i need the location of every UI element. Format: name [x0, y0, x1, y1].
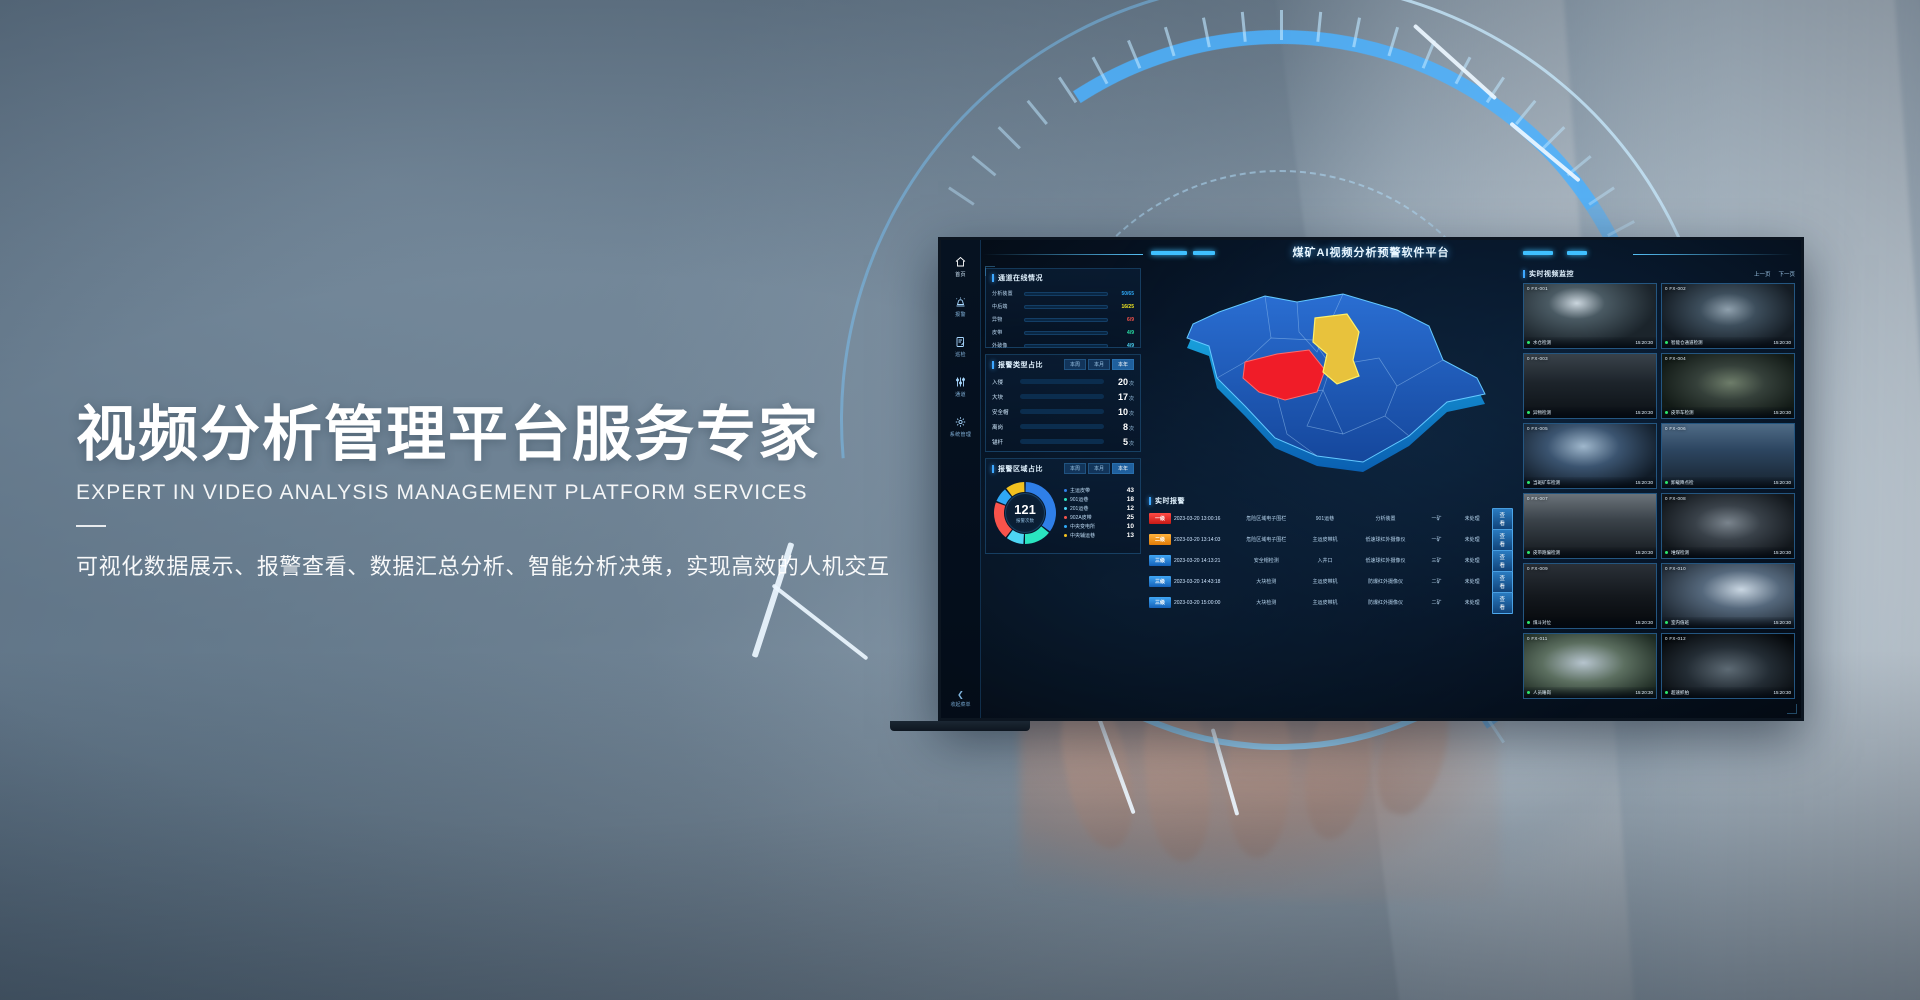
header-line-left	[983, 254, 1143, 255]
video-tile[interactable]: 0 FX-006卸载降点检15:20:30	[1661, 423, 1795, 489]
status-badge: 三级	[1149, 597, 1171, 608]
status-dot-icon	[1527, 551, 1530, 554]
video-tile-time: 15:20:30	[1635, 480, 1653, 485]
alarm-type-label: 离岗	[992, 423, 1016, 431]
alarm-icon	[943, 296, 979, 308]
sidebar-label-channel: 通道	[943, 391, 979, 398]
video-wall-title: 实时视频监控	[1529, 269, 1574, 279]
cell-location: 主运皮带机	[1299, 536, 1351, 543]
legend-dot	[1064, 525, 1067, 528]
channel-row-track	[1024, 318, 1108, 322]
camera-id: 0 FX-004	[1665, 356, 1686, 361]
channel-row-label: 中后端	[992, 303, 1020, 310]
screen-corner-tl	[985, 266, 995, 276]
cell-alarm-type: 大块检测	[1237, 578, 1297, 585]
header-chip-left-2	[1193, 251, 1215, 255]
cell-location: 入井口	[1299, 557, 1351, 564]
alarm-area-legend: 主运皮带43901运巷18201运巷12902A皮带25中央变电所10中央辅运巷…	[1064, 487, 1134, 539]
alarm-type-value: 10次	[1108, 407, 1134, 417]
video-tile[interactable]: 0 FX-012超速抓拍15:20:30	[1661, 633, 1795, 699]
video-tile-label: 室内值班	[1671, 620, 1689, 626]
channel-row: 中后端16/25	[992, 300, 1134, 313]
region-map-svg	[1147, 266, 1519, 488]
donut-center-value: 121	[1014, 503, 1036, 516]
cell-mine: 二矿	[1420, 578, 1453, 585]
camera-id: 0 FX-005	[1527, 426, 1548, 431]
dashboard-header: 煤矿AI视频分析预警软件平台	[941, 240, 1801, 266]
video-tile-label: 当斑矿车检测	[1533, 480, 1560, 486]
legend-value: 25	[1120, 514, 1134, 521]
realtime-alarm-title: 实时报警	[1155, 496, 1185, 506]
table-row: 一级2023-03-20 13:00:16危险区域电子围栏901运巷分析装置一矿…	[1147, 508, 1519, 529]
alarm-area-title: 报警区域占比	[998, 464, 1043, 474]
video-tile-label: 皮带车检测	[1671, 410, 1694, 416]
camera-id: 0 FX-006	[1665, 426, 1686, 431]
inspection-icon	[943, 336, 979, 348]
cell-alarm-type: 安全帽检测	[1237, 557, 1297, 564]
view-button[interactable]: 查看	[1492, 592, 1514, 614]
legend-label: 902A皮带	[1070, 514, 1117, 521]
view-button[interactable]: 查看	[1492, 571, 1514, 593]
title-accent-bar	[992, 361, 994, 369]
channel-row-label: 分析装置	[992, 290, 1020, 297]
alarm-type-row: 安全帽10次	[992, 404, 1134, 419]
legend-label: 主运皮带	[1070, 487, 1117, 494]
hero-description: 可视化数据展示、报警查看、数据汇总分析、智能分析决策，实现高效的人机交互	[76, 549, 976, 581]
legend-dot	[1064, 489, 1067, 492]
table-row: 三级2023-03-20 14:13:21安全帽检测入井口低速球红外摄像仪三矿未…	[1147, 550, 1519, 571]
cell-time: 2023-03-20 14:13:21	[1174, 558, 1234, 564]
video-tile-label: 智能仓通道检测	[1671, 340, 1703, 346]
legend-dot	[1064, 534, 1067, 537]
alarm-type-title-row: 报警类型占比 本周本月本年	[986, 355, 1140, 372]
video-tile-time: 15:20:30	[1773, 480, 1791, 485]
status-dot-icon	[1665, 691, 1668, 694]
collapse-icon: ❮	[943, 690, 979, 699]
cell-status: 未处理	[1456, 578, 1489, 585]
video-tile-footer: 皮带跑偏检测15:20:30	[1524, 547, 1656, 558]
legend-item: 主运皮带43	[1064, 487, 1134, 494]
channel-row: 异物6/9	[992, 313, 1134, 326]
video-tile-footer: 堆煤检测15:20:30	[1662, 547, 1794, 558]
cell-status: 未处理	[1456, 599, 1489, 606]
channel-online-list: 分析装置50/65中后端16/25异物6/9皮带4/9外破像4/9	[986, 285, 1140, 356]
title-accent-bar	[1149, 497, 1151, 505]
tab-本月[interactable]: 本月	[1088, 359, 1110, 370]
sidebar-item-home[interactable]: 首页	[943, 256, 979, 278]
channel-row-value: 4/9	[1112, 330, 1134, 336]
channel-row-value: 4/9	[1112, 343, 1134, 349]
realtime-alarm-rows: 一级2023-03-20 13:00:16危险区域电子围栏901运巷分析装置一矿…	[1147, 508, 1519, 613]
video-tile-time: 15:20:30	[1635, 620, 1653, 625]
realtime-alarm-panel: 实时报警 一级2023-03-20 13:00:16危险区域电子围栏901运巷分…	[1147, 492, 1519, 688]
next-page-button[interactable]: 下一页	[1778, 270, 1795, 278]
cell-time: 2023-03-20 14:43:18	[1174, 579, 1234, 585]
sidebar-collapse-label: 收起菜单	[943, 701, 979, 708]
video-tile-time: 15:20:30	[1635, 690, 1653, 695]
camera-id: 0 FX-003	[1527, 356, 1548, 361]
status-dot-icon	[1527, 481, 1530, 484]
video-tile-label: 堆煤检测	[1671, 550, 1689, 556]
legend-value: 12	[1120, 505, 1134, 512]
legend-label: 901运巷	[1070, 496, 1117, 503]
donut-center: 121 报警次数	[1005, 493, 1045, 533]
video-tile[interactable]: 0 FX-002智能仓通道检测15:20:30	[1661, 283, 1795, 349]
video-tile-footer: 煤斗对位15:20:30	[1524, 617, 1656, 628]
header-chip-left-1	[1151, 251, 1187, 255]
video-tile-label: 异物检测	[1533, 410, 1551, 416]
sidebar-item-alarm[interactable]: 报警	[943, 296, 979, 318]
video-tile-footer: 当斑矿车检测15:20:30	[1524, 477, 1656, 488]
legend-label: 201运巷	[1070, 505, 1117, 512]
alarm-type-label: 入侵	[992, 378, 1016, 386]
alarm-type-track	[1020, 379, 1104, 384]
screen-corner-br	[1787, 704, 1797, 714]
prev-page-button[interactable]: 上一页	[1754, 270, 1771, 278]
video-tile-time: 15:20:30	[1773, 410, 1791, 415]
sidebar-label-system-settings: 系统管理	[943, 431, 979, 438]
video-tile[interactable]: 0 FX-005当斑矿车检测15:20:30	[1523, 423, 1657, 489]
cell-mine: 二矿	[1420, 599, 1453, 606]
sidebar-collapse[interactable]: ❮ 收起菜单	[943, 690, 979, 708]
alarm-type-value: 8次	[1108, 422, 1134, 432]
sidebar-item-channel[interactable]: 通道	[943, 376, 979, 398]
alarm-type-row: 入侵20次	[992, 374, 1134, 389]
tab-本周[interactable]: 本周	[1064, 463, 1086, 474]
alarm-area-chart-row: 121 报警次数 主运皮带43901运巷18201运巷12902A皮带25中央变…	[986, 476, 1140, 550]
video-tile-time: 15:20:30	[1773, 550, 1791, 555]
video-tile-time: 15:20:30	[1773, 340, 1791, 345]
cell-action: 查看	[1492, 529, 1518, 551]
channel-row-value: 6/9	[1112, 317, 1134, 323]
status-dot-icon	[1527, 621, 1530, 624]
status-badge: 二级	[1149, 534, 1171, 545]
alarm-type-track	[1020, 439, 1104, 444]
hero-subtitle: EXPERT IN VIDEO ANALYSIS MANAGEMENT PLAT…	[76, 481, 976, 505]
alarm-type-label: 锚杆	[992, 438, 1016, 446]
channel-row: 皮带4/9	[992, 326, 1134, 339]
cell-action: 查看	[1492, 550, 1518, 572]
legend-label: 中央变电所	[1070, 523, 1117, 530]
video-tile[interactable]: 0 FX-004皮带车检测15:20:30	[1661, 353, 1795, 419]
video-tile-footer: 皮带车检测15:20:30	[1662, 407, 1794, 418]
dashboard-screen: 煤矿AI视频分析预警软件平台 首页 报警	[941, 240, 1801, 718]
legend-value: 10	[1120, 523, 1134, 530]
cell-device: 低速球红外摄像仪	[1354, 536, 1417, 543]
status-dot-icon	[1527, 341, 1530, 344]
video-tile-label: 超速抓拍	[1671, 690, 1689, 696]
camera-id: 0 FX-001	[1527, 286, 1548, 291]
video-tile[interactable]: 0 FX-001水仓检测15:20:30	[1523, 283, 1657, 349]
channel-row-track	[1024, 305, 1108, 309]
gear-icon	[943, 416, 979, 428]
camera-id: 0 FX-012	[1665, 636, 1686, 641]
sidebar: 首页 报警 巡检 通道	[941, 240, 981, 718]
cell-action: 查看	[1492, 508, 1518, 530]
video-tile-footer: 水仓检测15:20:30	[1524, 337, 1656, 348]
status-badge: 一级	[1149, 513, 1171, 524]
alarm-area-tabs: 本周本月本年	[1064, 463, 1134, 474]
home-icon	[943, 256, 979, 268]
channel-row: 外破像4/9	[992, 339, 1134, 352]
header-chip-right-1	[1523, 251, 1553, 255]
table-row: 三级2023-03-20 14:43:18大块检测主运皮带机防爆红外摄像仪二矿未…	[1147, 571, 1519, 592]
video-wall-panel: 实时视频监控 上一页 下一页 0 FX-001水仓检测15:20:300 FX-…	[1519, 266, 1799, 718]
cell-device: 防爆红外摄像仪	[1354, 578, 1417, 585]
status-dot-icon	[1665, 481, 1668, 484]
video-wall-grid: 0 FX-001水仓检测15:20:300 FX-002智能仓通道检测15:20…	[1519, 281, 1799, 701]
camera-id: 0 FX-008	[1665, 496, 1686, 501]
alarm-type-track	[1020, 409, 1104, 414]
status-dot-icon	[1665, 551, 1668, 554]
cell-mine: 三矿	[1420, 557, 1453, 564]
status-dot-icon	[1665, 341, 1668, 344]
status-dot-icon	[1527, 691, 1530, 694]
channel-online-panel: 通道在线情况 分析装置50/65中后端16/25异物6/9皮带4/9外破像4/9	[985, 268, 1141, 348]
legend-item: 中央辅运巷13	[1064, 532, 1134, 539]
alarm-area-donut: 121 报警次数	[992, 480, 1058, 546]
channel-row-track	[1024, 344, 1108, 348]
cell-time: 2023-03-20 13:00:16	[1174, 516, 1234, 522]
cell-location: 主运皮带机	[1299, 599, 1351, 606]
title-accent-bar	[1523, 270, 1525, 278]
video-tile-time: 15:20:30	[1635, 410, 1653, 415]
donut-segment[interactable]	[1010, 534, 1024, 539]
alarm-type-tabs: 本周本月本年	[1064, 359, 1134, 370]
cell-alarm-type: 危险区域电子围栏	[1237, 515, 1297, 522]
channel-online-title: 通道在线情况	[998, 273, 1043, 283]
video-tile-time: 15:20:30	[1773, 690, 1791, 695]
monitor-stand	[890, 721, 1030, 731]
cell-device: 低速球红外摄像仪	[1354, 557, 1417, 564]
video-tile[interactable]: 0 FX-003异物检测15:20:30	[1523, 353, 1657, 419]
channel-row-label: 异物	[992, 316, 1020, 323]
legend-label: 中央辅运巷	[1070, 532, 1117, 539]
video-tile-label: 人员睡岗	[1533, 690, 1551, 696]
cell-location: 901运巷	[1299, 515, 1351, 522]
channel-row-label: 外破像	[992, 342, 1020, 349]
legend-item: 902A皮带25	[1064, 514, 1134, 521]
alarm-area-title-row: 报警区域占比 本周本月本年	[986, 459, 1140, 476]
video-tile-footer: 人员睡岗15:20:30	[1524, 687, 1656, 698]
hero-divider	[76, 525, 106, 527]
status-badge: 三级	[1149, 555, 1171, 566]
video-tile[interactable]: 0 FX-010室内值班15:20:30	[1661, 563, 1795, 629]
camera-id: 0 FX-002	[1665, 286, 1686, 291]
alarm-type-value: 5次	[1108, 437, 1134, 447]
cell-alarm-type: 危险区域电子围栏	[1237, 536, 1297, 543]
video-tile-label: 卸载降点检	[1671, 480, 1694, 486]
channel-icon	[943, 376, 979, 388]
alarm-area-panel: 报警区域占比 本周本月本年 121 报警次数 主运皮带43901运巷18201运…	[985, 458, 1141, 554]
legend-value: 13	[1120, 532, 1134, 539]
cell-mine: 一矿	[1420, 536, 1453, 543]
channel-row-track	[1024, 292, 1108, 296]
region-map[interactable]	[1147, 266, 1519, 488]
cell-device: 分析装置	[1354, 515, 1417, 522]
status-dot-icon	[1665, 621, 1668, 624]
dashboard-monitor: 煤矿AI视频分析预警软件平台 首页 报警	[938, 237, 1804, 721]
hero-title: 视频分析管理平台服务专家	[76, 400, 976, 469]
video-tile[interactable]: 0 FX-008堆煤检测15:20:30	[1661, 493, 1795, 559]
alarm-type-list: 入侵20次大块17次安全帽10次离岗8次锚杆5次	[986, 372, 1140, 452]
cell-time: 2023-03-20 13:14:03	[1174, 537, 1234, 543]
camera-id: 0 FX-010	[1665, 566, 1686, 571]
alarm-type-row: 大块17次	[992, 389, 1134, 404]
camera-id: 0 FX-011	[1527, 636, 1548, 641]
video-tile-label: 皮带跑偏检测	[1533, 550, 1560, 556]
status-dot-icon	[1527, 411, 1530, 414]
video-tile-time: 15:20:30	[1635, 340, 1653, 345]
cell-device: 防爆红外摄像仪	[1354, 599, 1417, 606]
tab-本月[interactable]: 本月	[1088, 463, 1110, 474]
alarm-type-track	[1020, 424, 1104, 429]
header-line-right	[1633, 254, 1793, 255]
channel-row-track	[1024, 331, 1108, 335]
legend-dot	[1064, 507, 1067, 510]
cell-action: 查看	[1492, 592, 1518, 614]
video-tile-time: 15:20:30	[1773, 620, 1791, 625]
status-dot-icon	[1665, 411, 1668, 414]
legend-item: 中央变电所10	[1064, 523, 1134, 530]
sidebar-item-inspection[interactable]: 巡检	[943, 336, 979, 358]
alarm-type-label: 安全帽	[992, 408, 1016, 416]
cell-mine: 一矿	[1420, 515, 1453, 522]
cell-status: 未处理	[1456, 557, 1489, 564]
video-tile[interactable]: 0 FX-009煤斗对位15:20:30	[1523, 563, 1657, 629]
tab-本周[interactable]: 本周	[1064, 359, 1086, 370]
cell-location: 主运皮带机	[1299, 578, 1351, 585]
cell-time: 2023-03-20 15:00:00	[1174, 600, 1234, 606]
channel-row-value: 50/65	[1112, 291, 1134, 297]
alarm-type-row: 锚杆5次	[992, 434, 1134, 449]
legend-dot	[1064, 498, 1067, 501]
legend-dot	[1064, 516, 1067, 519]
camera-id: 0 FX-007	[1527, 496, 1548, 501]
title-accent-bar	[992, 465, 994, 473]
video-tile[interactable]: 0 FX-011人员睡岗15:20:30	[1523, 633, 1657, 699]
view-button[interactable]: 查看	[1492, 529, 1514, 551]
video-tile[interactable]: 0 FX-007皮带跑偏检测15:20:30	[1523, 493, 1657, 559]
legend-item: 201运巷12	[1064, 505, 1134, 512]
video-wall-pager: 上一页 下一页	[1754, 270, 1795, 278]
alarm-type-panel: 报警类型占比 本周本月本年 入侵20次大块17次安全帽10次离岗8次锚杆5次	[985, 354, 1141, 452]
tab-本年[interactable]: 本年	[1112, 359, 1134, 370]
sidebar-label-home: 首页	[943, 271, 979, 278]
status-badge: 三级	[1149, 576, 1171, 587]
video-tile-footer: 超速抓拍15:20:30	[1662, 687, 1794, 698]
view-button[interactable]: 查看	[1492, 550, 1514, 572]
video-tile-footer: 异物检测15:20:30	[1524, 407, 1656, 418]
hero-text-block: 视频分析管理平台服务专家 EXPERT IN VIDEO ANALYSIS MA…	[76, 400, 976, 581]
table-row: 二级2023-03-20 13:14:03危险区域电子围栏主运皮带机低速球红外摄…	[1147, 529, 1519, 550]
video-tile-label: 煤斗对位	[1533, 620, 1551, 626]
cell-alarm-type: 大块检测	[1237, 599, 1297, 606]
legend-value: 18	[1120, 496, 1134, 503]
alarm-type-title: 报警类型占比	[998, 360, 1043, 370]
legend-item: 901运巷18	[1064, 496, 1134, 503]
header-chip-right-2	[1567, 251, 1587, 255]
video-tile-footer: 室内值班15:20:30	[1662, 617, 1794, 628]
video-wall-header: 实时视频监控 上一页 下一页	[1519, 266, 1799, 281]
legend-value: 43	[1120, 487, 1134, 494]
sidebar-item-system-settings[interactable]: 系统管理	[943, 416, 979, 438]
app-title: 煤矿AI视频分析预警软件平台	[1293, 244, 1450, 260]
table-row: 三级2023-03-20 15:00:00大块检测主运皮带机防爆红外摄像仪二矿未…	[1147, 592, 1519, 613]
channel-row: 分析装置50/65	[992, 287, 1134, 300]
tab-本年[interactable]: 本年	[1112, 463, 1134, 474]
donut-segment[interactable]	[1009, 487, 1024, 492]
sidebar-label-inspection: 巡检	[943, 351, 979, 358]
video-tile-footer: 智能仓通道检测15:20:30	[1662, 337, 1794, 348]
video-tile-time: 15:20:30	[1635, 550, 1653, 555]
alarm-type-value: 17次	[1108, 392, 1134, 402]
realtime-alarm-title-row: 实时报警	[1147, 492, 1519, 508]
video-tile-footer: 卸载降点检15:20:30	[1662, 477, 1794, 488]
alarm-type-row: 离岗8次	[992, 419, 1134, 434]
alarm-type-label: 大块	[992, 393, 1016, 401]
cell-action: 查看	[1492, 571, 1518, 593]
donut-center-label: 报警次数	[1016, 518, 1034, 524]
cell-status: 未处理	[1456, 515, 1489, 522]
view-button[interactable]: 查看	[1492, 508, 1514, 530]
camera-id: 0 FX-009	[1527, 566, 1548, 571]
channel-online-title-row: 通道在线情况	[986, 269, 1140, 285]
alarm-type-value: 20次	[1108, 377, 1134, 387]
channel-row-value: 16/25	[1112, 304, 1134, 310]
alarm-type-track	[1020, 394, 1104, 399]
sidebar-label-alarm: 报警	[943, 311, 979, 318]
channel-row-label: 皮带	[992, 329, 1020, 336]
video-tile-label: 水仓检测	[1533, 340, 1551, 346]
cell-status: 未处理	[1456, 536, 1489, 543]
